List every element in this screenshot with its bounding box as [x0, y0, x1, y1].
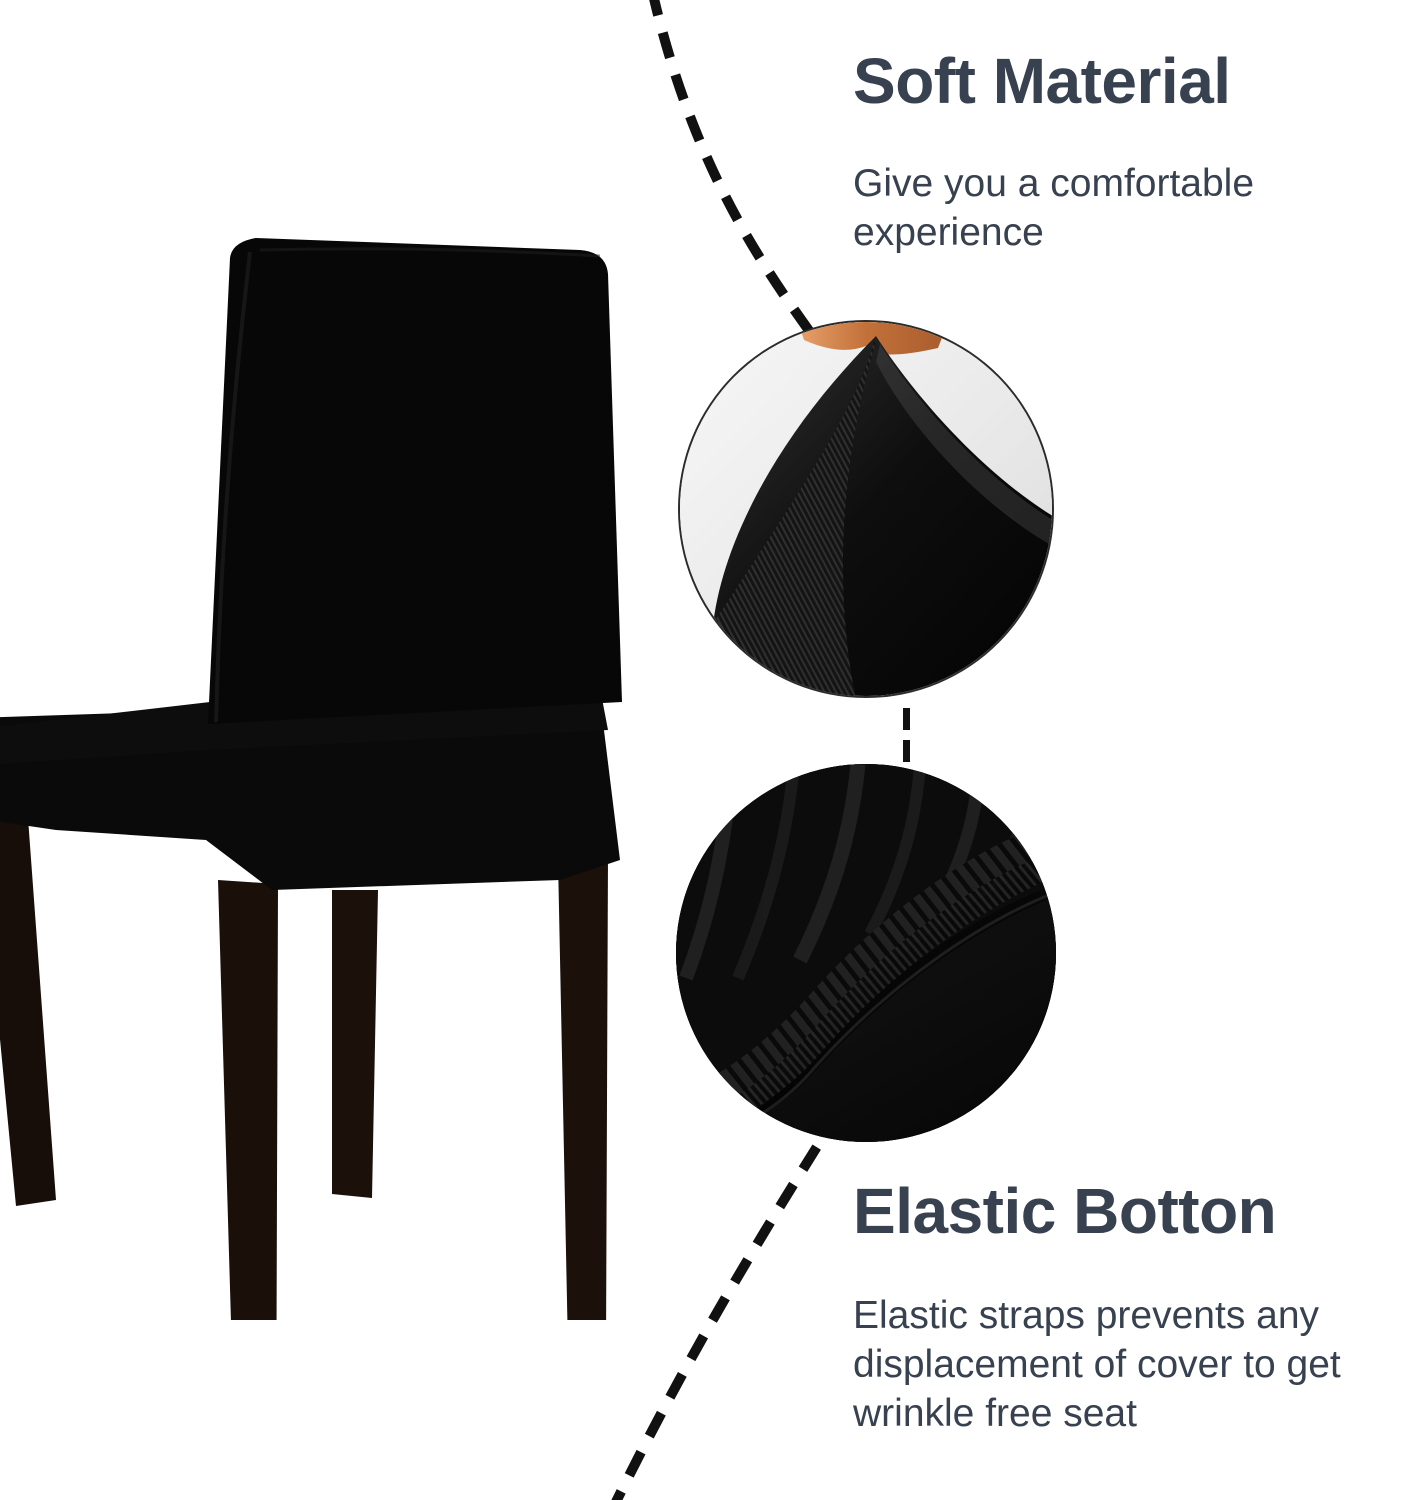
feature-block-elastic-botton: Elastic Botton Elastic straps prevents a…: [853, 1178, 1405, 1438]
chair-leg-back-right: [332, 890, 378, 1198]
feature-title-elastic-botton: Elastic Botton: [853, 1178, 1405, 1245]
feature-description-elastic-botton: Elastic straps prevents any displacement…: [853, 1291, 1405, 1438]
chair-leg-front-right: [558, 854, 608, 1320]
chair-leg-front-left: [218, 880, 278, 1320]
feature-title-soft-material: Soft Material: [853, 48, 1393, 115]
detail-circle-soft-material: [678, 320, 1054, 698]
divider-path: [652, 0, 838, 372]
dashed-connector: [903, 708, 910, 730]
infographic-canvas: Soft Material Give you a comfortable exp…: [0, 0, 1427, 1500]
chair-leg-back-left: [0, 810, 56, 1206]
feature-block-soft-material: Soft Material Give you a comfortable exp…: [853, 48, 1393, 257]
chair-illustration: [0, 190, 660, 1320]
detail-circle-elastic-botton: [676, 764, 1056, 1142]
chair-cover-backrest: [208, 238, 622, 724]
elastic-closeup-svg: [676, 764, 1056, 1142]
chair-svg: [0, 190, 660, 1320]
fabric-closeup-svg: [680, 322, 1054, 698]
dashed-connector: [903, 740, 910, 762]
feature-description-soft-material: Give you a comfortable experience: [853, 159, 1393, 257]
